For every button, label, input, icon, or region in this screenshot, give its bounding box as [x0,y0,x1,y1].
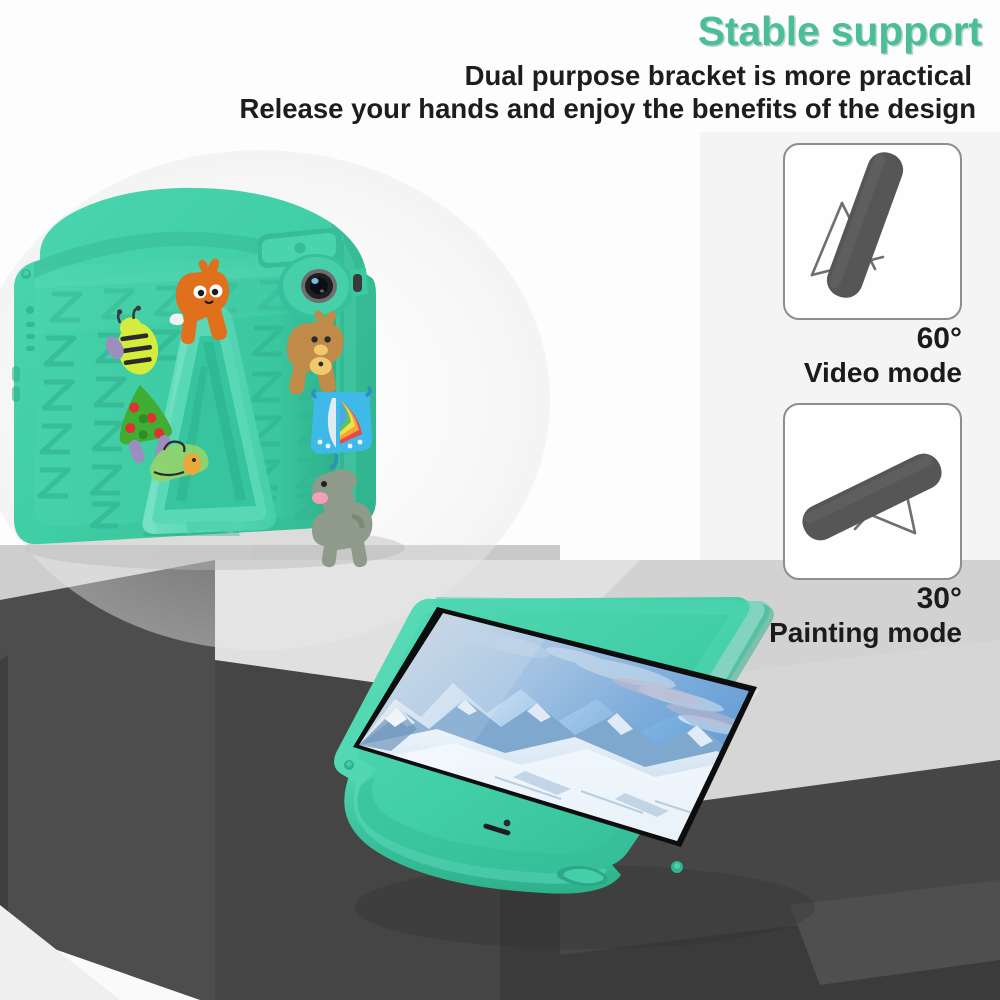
subheadline-two: Release your hands and enjoy the benefit… [0,93,976,125]
tablet-stand-shallow-icon [785,405,959,577]
subheadline-one: Dual purpose bracket is more practical [0,60,972,92]
page-headline: Stable support [0,8,982,55]
tablet-stand-steep-icon [785,145,959,317]
flash-slot [350,268,368,296]
mode-angle-video: 60° [783,322,962,356]
product-marketing-image: Stable support Dual purpose bracket is m… [0,0,1000,1000]
kids-tablet-case-front-view [325,595,865,955]
mode-icon-box-video [783,143,962,320]
mode-icon-box-painting [783,403,962,580]
kids-tablet-case-back-view [0,170,520,600]
front-camera [504,820,511,827]
lanyard-hole-right [295,243,306,254]
mode-label-video: Video mode [700,357,962,389]
